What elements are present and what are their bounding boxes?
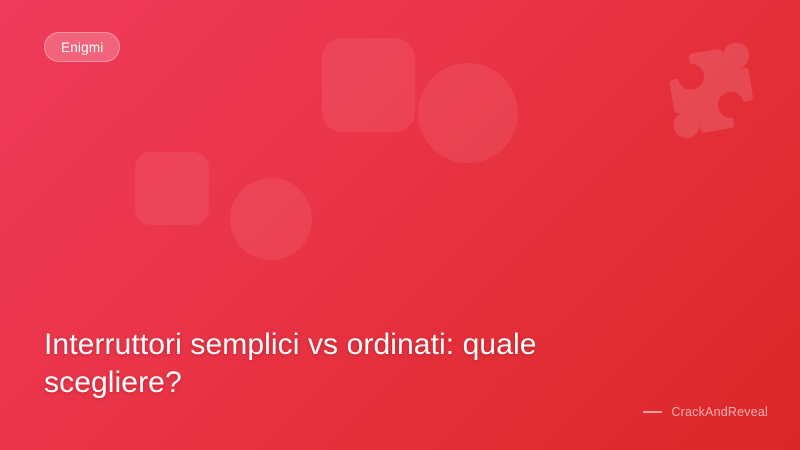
page-title: Interruttori semplici vs ordinati: quale… xyxy=(44,326,644,402)
rounded-square-large-shape xyxy=(322,38,415,132)
brand-rule-icon xyxy=(643,411,662,413)
brand-name: CrackAndReveal xyxy=(671,405,768,419)
social-card: Enigmi Interruttori semplici vs ordinati… xyxy=(0,0,800,450)
puzzle-piece-icon xyxy=(661,40,773,148)
category-badge[interactable]: Enigmi xyxy=(44,32,120,62)
circle-small-shape xyxy=(230,178,312,260)
circle-large-shape xyxy=(418,63,518,163)
brand-footer: CrackAndReveal xyxy=(643,405,768,419)
category-badge-label: Enigmi xyxy=(61,40,103,55)
rounded-square-small-shape xyxy=(135,152,209,225)
